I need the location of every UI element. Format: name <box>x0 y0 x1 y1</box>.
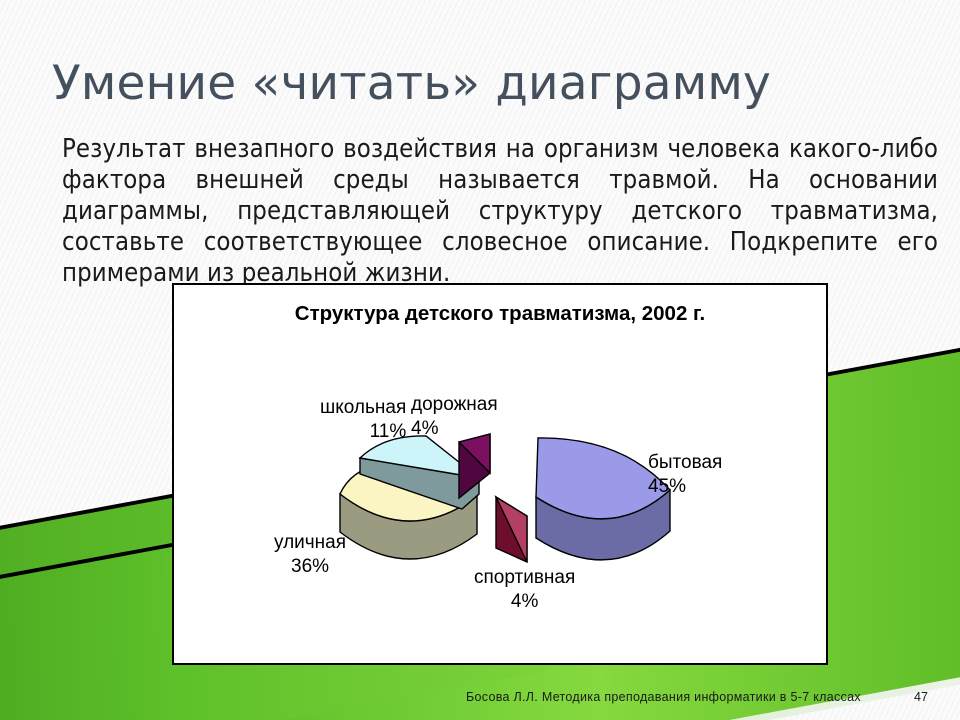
pie-label-dorozhnaya-value: 4% <box>411 417 498 441</box>
pie-label-ulichnaya-name: уличная <box>274 532 346 553</box>
pie-label-shkolnaya: школьная 11% <box>320 396 406 444</box>
footer-source: Босова Л.Л. Методика преподавания информ… <box>466 690 861 704</box>
slide-body-text: Результат внезапного воздействия на орга… <box>62 134 938 289</box>
pie-label-bytovaya-value: 45% <box>648 475 722 499</box>
pie-label-ulichnaya-value: 36% <box>274 555 346 579</box>
pie-label-shkolnaya-value: 11% <box>320 420 406 444</box>
pie-label-sportivnaya-name: спортивная <box>474 567 575 588</box>
pie-label-bytovaya-name: бытовая <box>648 452 722 473</box>
pie-slice-sportivnaya <box>496 497 527 562</box>
pie-label-dorozhnaya-name: дорожная <box>411 394 498 415</box>
pie-label-dorozhnaya: дорожная 4% <box>411 393 498 441</box>
pie-label-sportivnaya: спортивная 4% <box>474 566 575 614</box>
slide: Умение «читать» диаграмму Результат внез… <box>0 0 960 720</box>
pie-label-shkolnaya-name: школьная <box>320 397 406 418</box>
pie-label-sportivnaya-value: 4% <box>474 590 575 614</box>
slide-title: Умение «читать» диаграмму <box>52 56 771 111</box>
page-number: 47 <box>914 690 928 704</box>
pie-label-bytovaya: бытовая 45% <box>648 451 722 499</box>
chart-container: Структура детского травматизма, 2002 г. <box>172 283 828 665</box>
body-paragraph: Результат внезапного воздействия на орга… <box>62 134 938 289</box>
pie-label-ulichnaya: уличная 36% <box>274 531 346 579</box>
